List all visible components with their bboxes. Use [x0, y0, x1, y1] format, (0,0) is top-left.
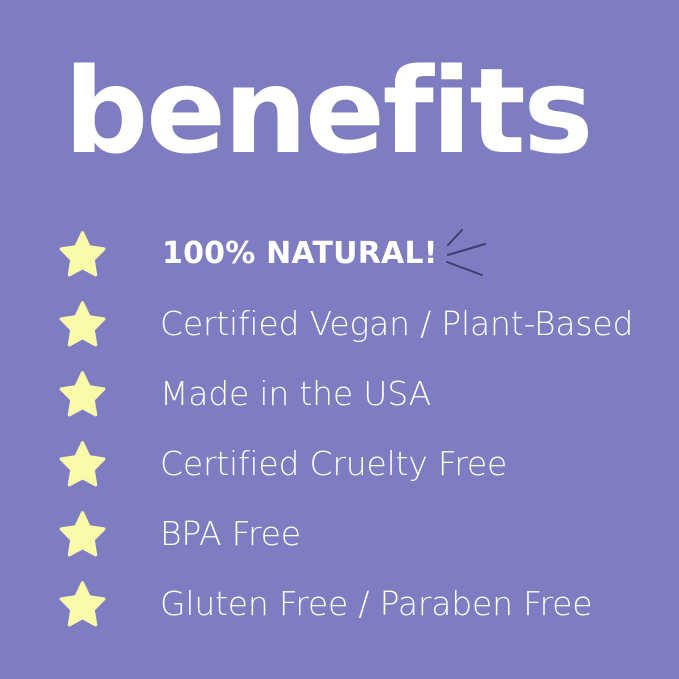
benefits-list: 100% NATURAL! Certified Vegan / Plant-Ba…: [0, 219, 679, 639]
list-item-label: 100% NATURAL!: [162, 236, 438, 272]
list-item: 100% NATURAL!: [0, 219, 679, 289]
list-item-label: Certified Vegan / Plant-Based: [160, 306, 633, 342]
list-item: Made in the USA: [0, 359, 679, 429]
list-item-label: Gluten Free / Paraben Free: [160, 586, 592, 622]
list-item: Certified Cruelty Free: [0, 429, 679, 499]
list-item-label: Made in the USA: [160, 376, 431, 412]
star-icon: [59, 441, 106, 488]
list-item: Certified Vegan / Plant-Based: [0, 289, 679, 359]
page-title: benefits: [64, 52, 591, 170]
list-item-label: Certified Cruelty Free: [160, 446, 507, 482]
star-icon: [59, 301, 106, 348]
list-item: Gluten Free / Paraben Free: [0, 569, 679, 639]
star-icon: [59, 581, 106, 628]
star-icon: [59, 231, 106, 278]
list-item-label: BPA Free: [160, 516, 301, 552]
benefits-poster: benefits 100% NATURAL!: [0, 0, 679, 679]
list-item: BPA Free: [0, 499, 679, 569]
star-icon: [59, 511, 106, 558]
sparkle-lines-icon: [444, 228, 492, 280]
star-icon: [59, 371, 106, 418]
